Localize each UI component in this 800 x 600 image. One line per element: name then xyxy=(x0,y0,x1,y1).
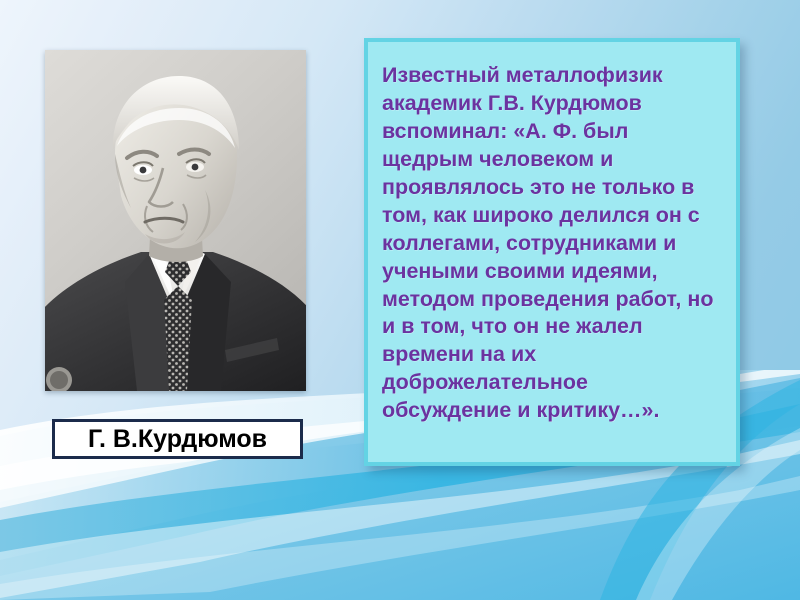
portrait-photo xyxy=(45,50,306,391)
name-plate: Г. В.Курдюмов xyxy=(52,419,303,459)
quotation-card: Известный металлофизик академик Г.В. Кур… xyxy=(364,38,740,466)
quotation-card-body: Известный металлофизик академик Г.В. Кур… xyxy=(368,42,736,435)
name-plate-label: Г. В.Курдюмов xyxy=(88,427,267,452)
quotation-text: Известный металлофизик академик Г.В. Кур… xyxy=(382,62,720,425)
presentation-slide: Г. В.Курдюмов Известный металлофизик ака… xyxy=(0,0,800,600)
